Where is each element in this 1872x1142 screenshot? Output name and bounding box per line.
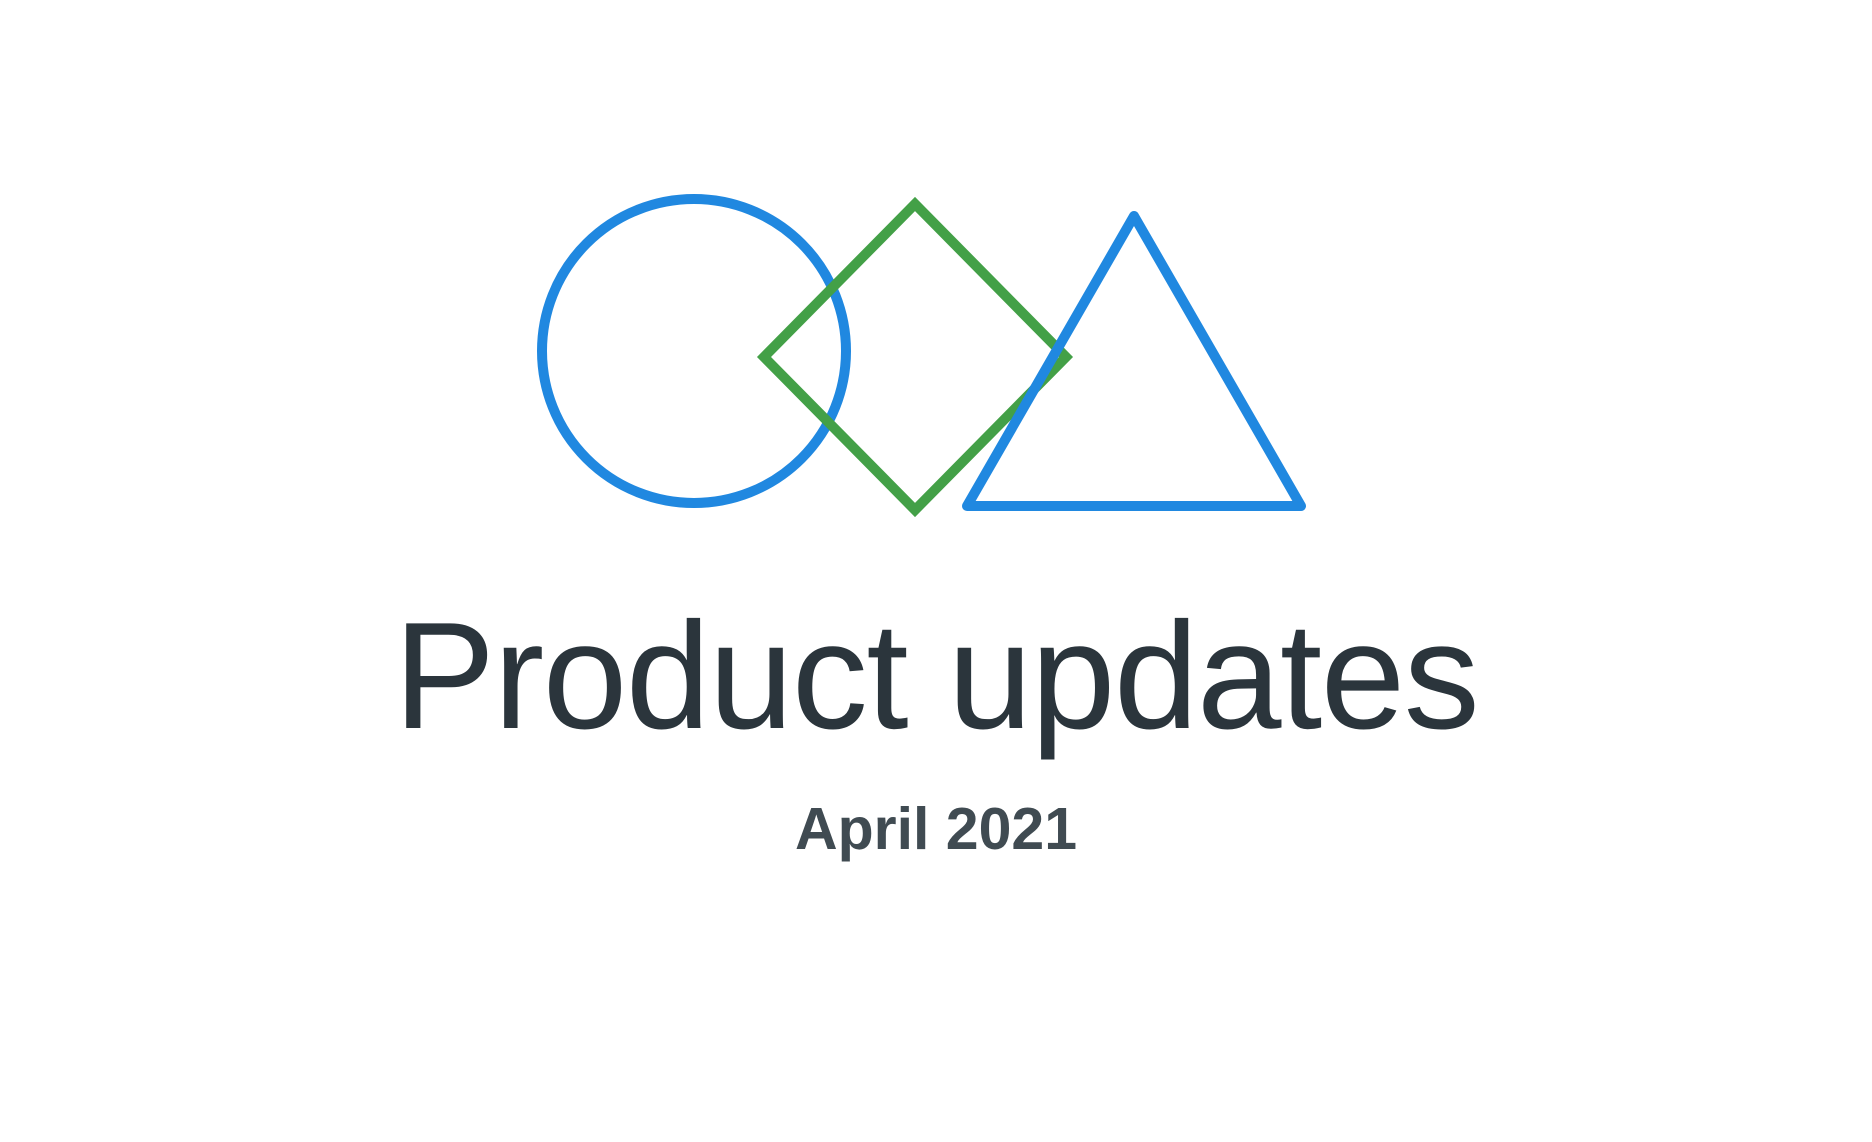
three-shapes-logo-svg	[0, 0, 1872, 600]
page-title: Product updates	[0, 600, 1872, 752]
triangle-icon	[967, 216, 1301, 506]
slide-canvas: Product updates April 2021	[0, 0, 1872, 1142]
title-block: Product updates April 2021	[0, 600, 1872, 859]
page-subtitle: April 2021	[0, 800, 1872, 859]
brand-logo	[0, 0, 1872, 600]
circle-icon	[542, 199, 846, 503]
diamond-icon	[764, 204, 1066, 510]
